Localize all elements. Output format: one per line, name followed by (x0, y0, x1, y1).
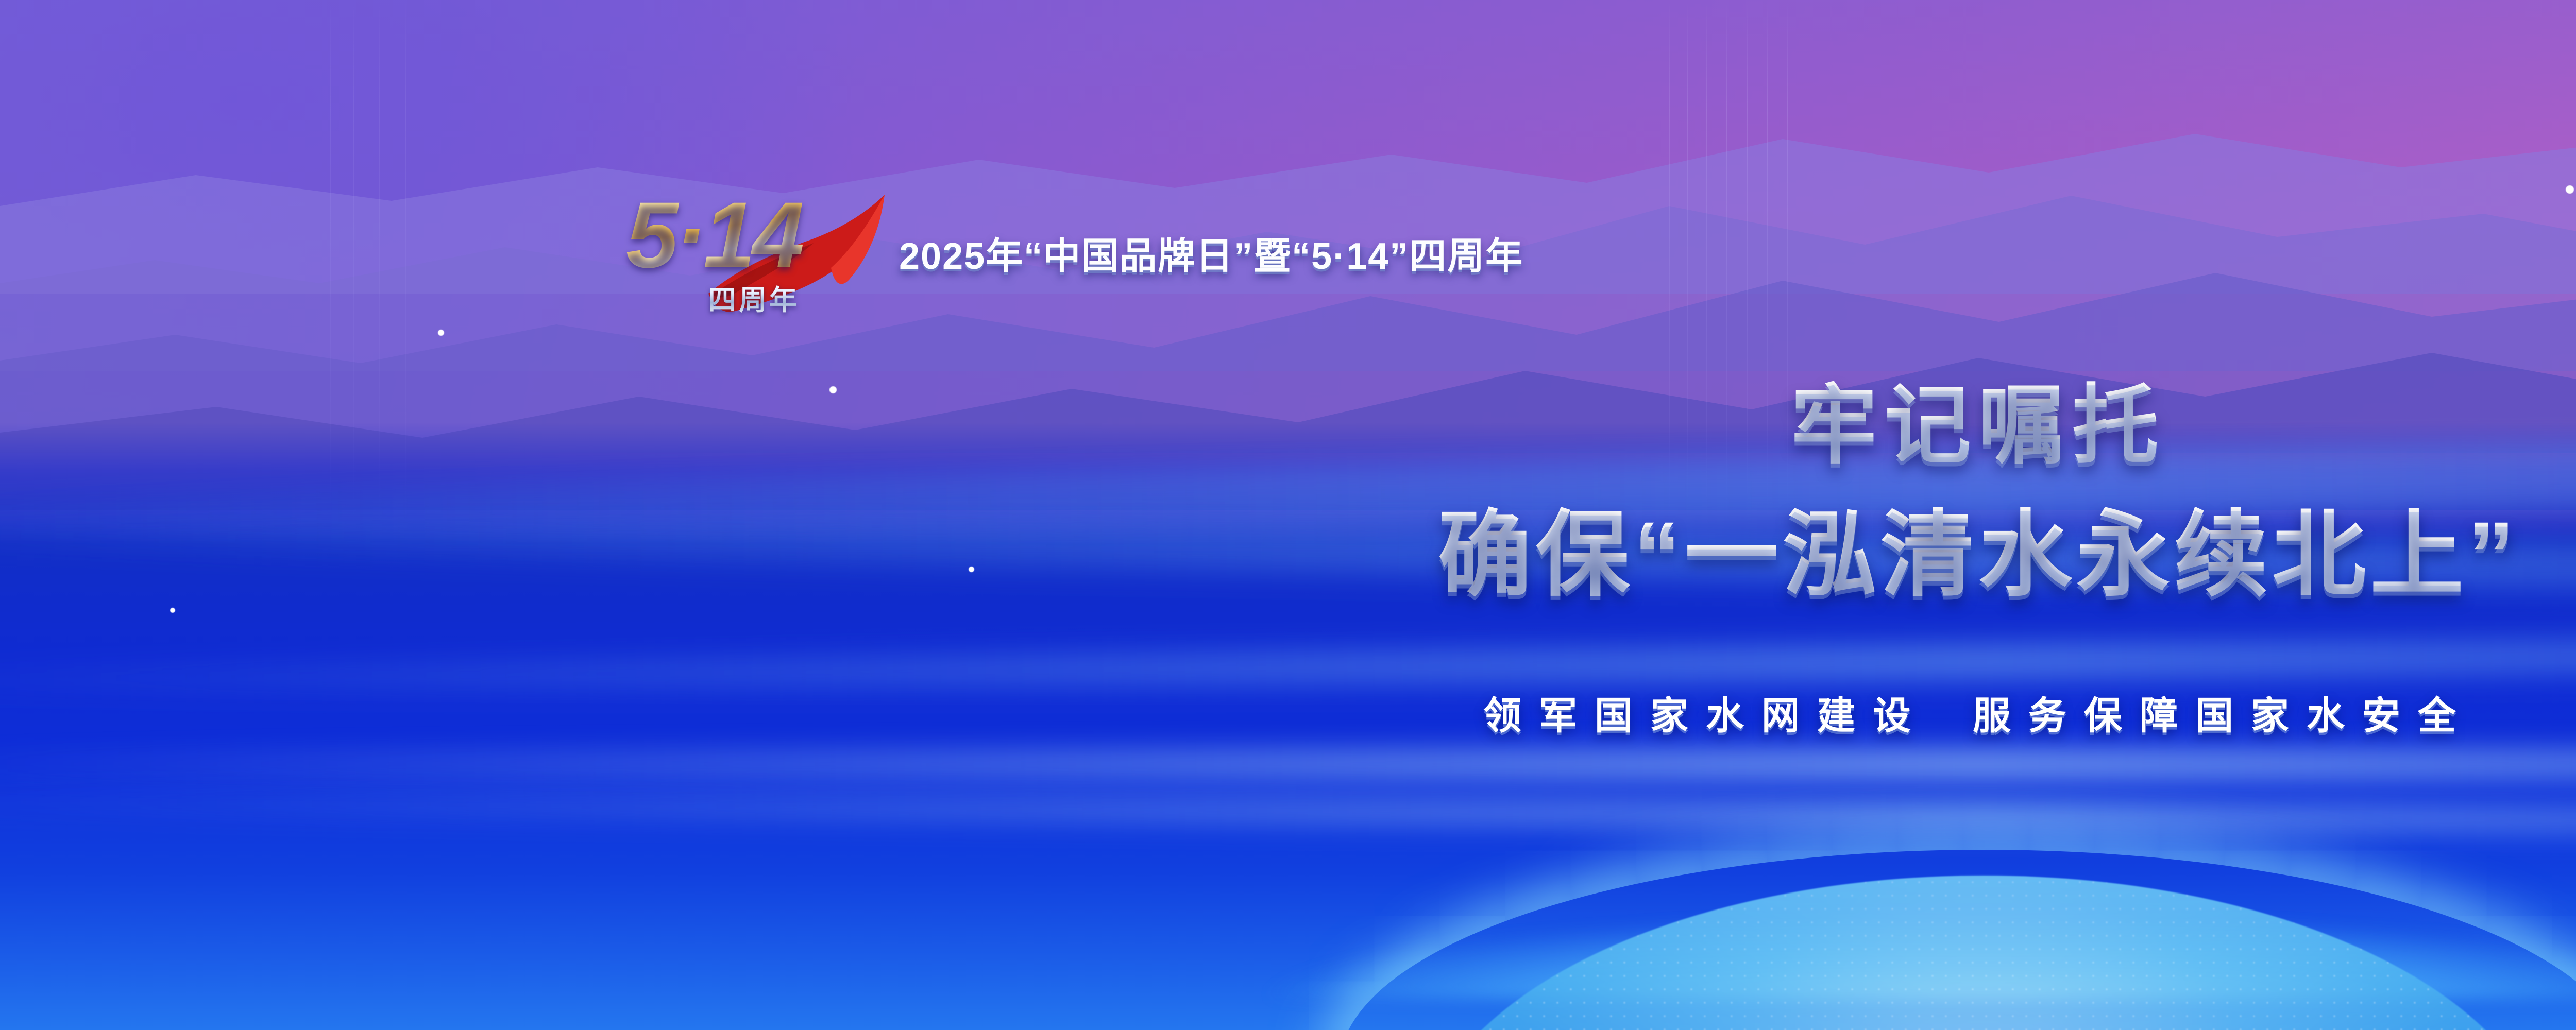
subtitle-line: 领军国家水网建设服务保障国家水安全 (0, 685, 2576, 740)
banner-top-row: 5·14 四周年 2025年“中国品牌日”暨“5·14”四周年 (0, 185, 2576, 340)
headline-line-1: 牢记嘱托 (0, 355, 2576, 480)
banner-stage: 5·14 四周年 2025年“中国品牌日”暨“5·14”四周年 (0, 0, 2576, 1030)
subtitle-left: 领军国家水网建设 (1483, 694, 1928, 737)
headline-line-2: 确保“一泓清水永续北上” (0, 479, 2576, 614)
514-anniversary-emblem: 5·14 四周年 (626, 185, 842, 335)
emblem-anniversary-label: 四周年 (708, 277, 800, 318)
subtitle-right: 服务保障国家水安全 (1973, 694, 2473, 737)
emblem-number: 5·14 (626, 182, 832, 293)
event-title-line: 2025年“中国品牌日”暨“5·14”四周年 (899, 226, 1523, 280)
